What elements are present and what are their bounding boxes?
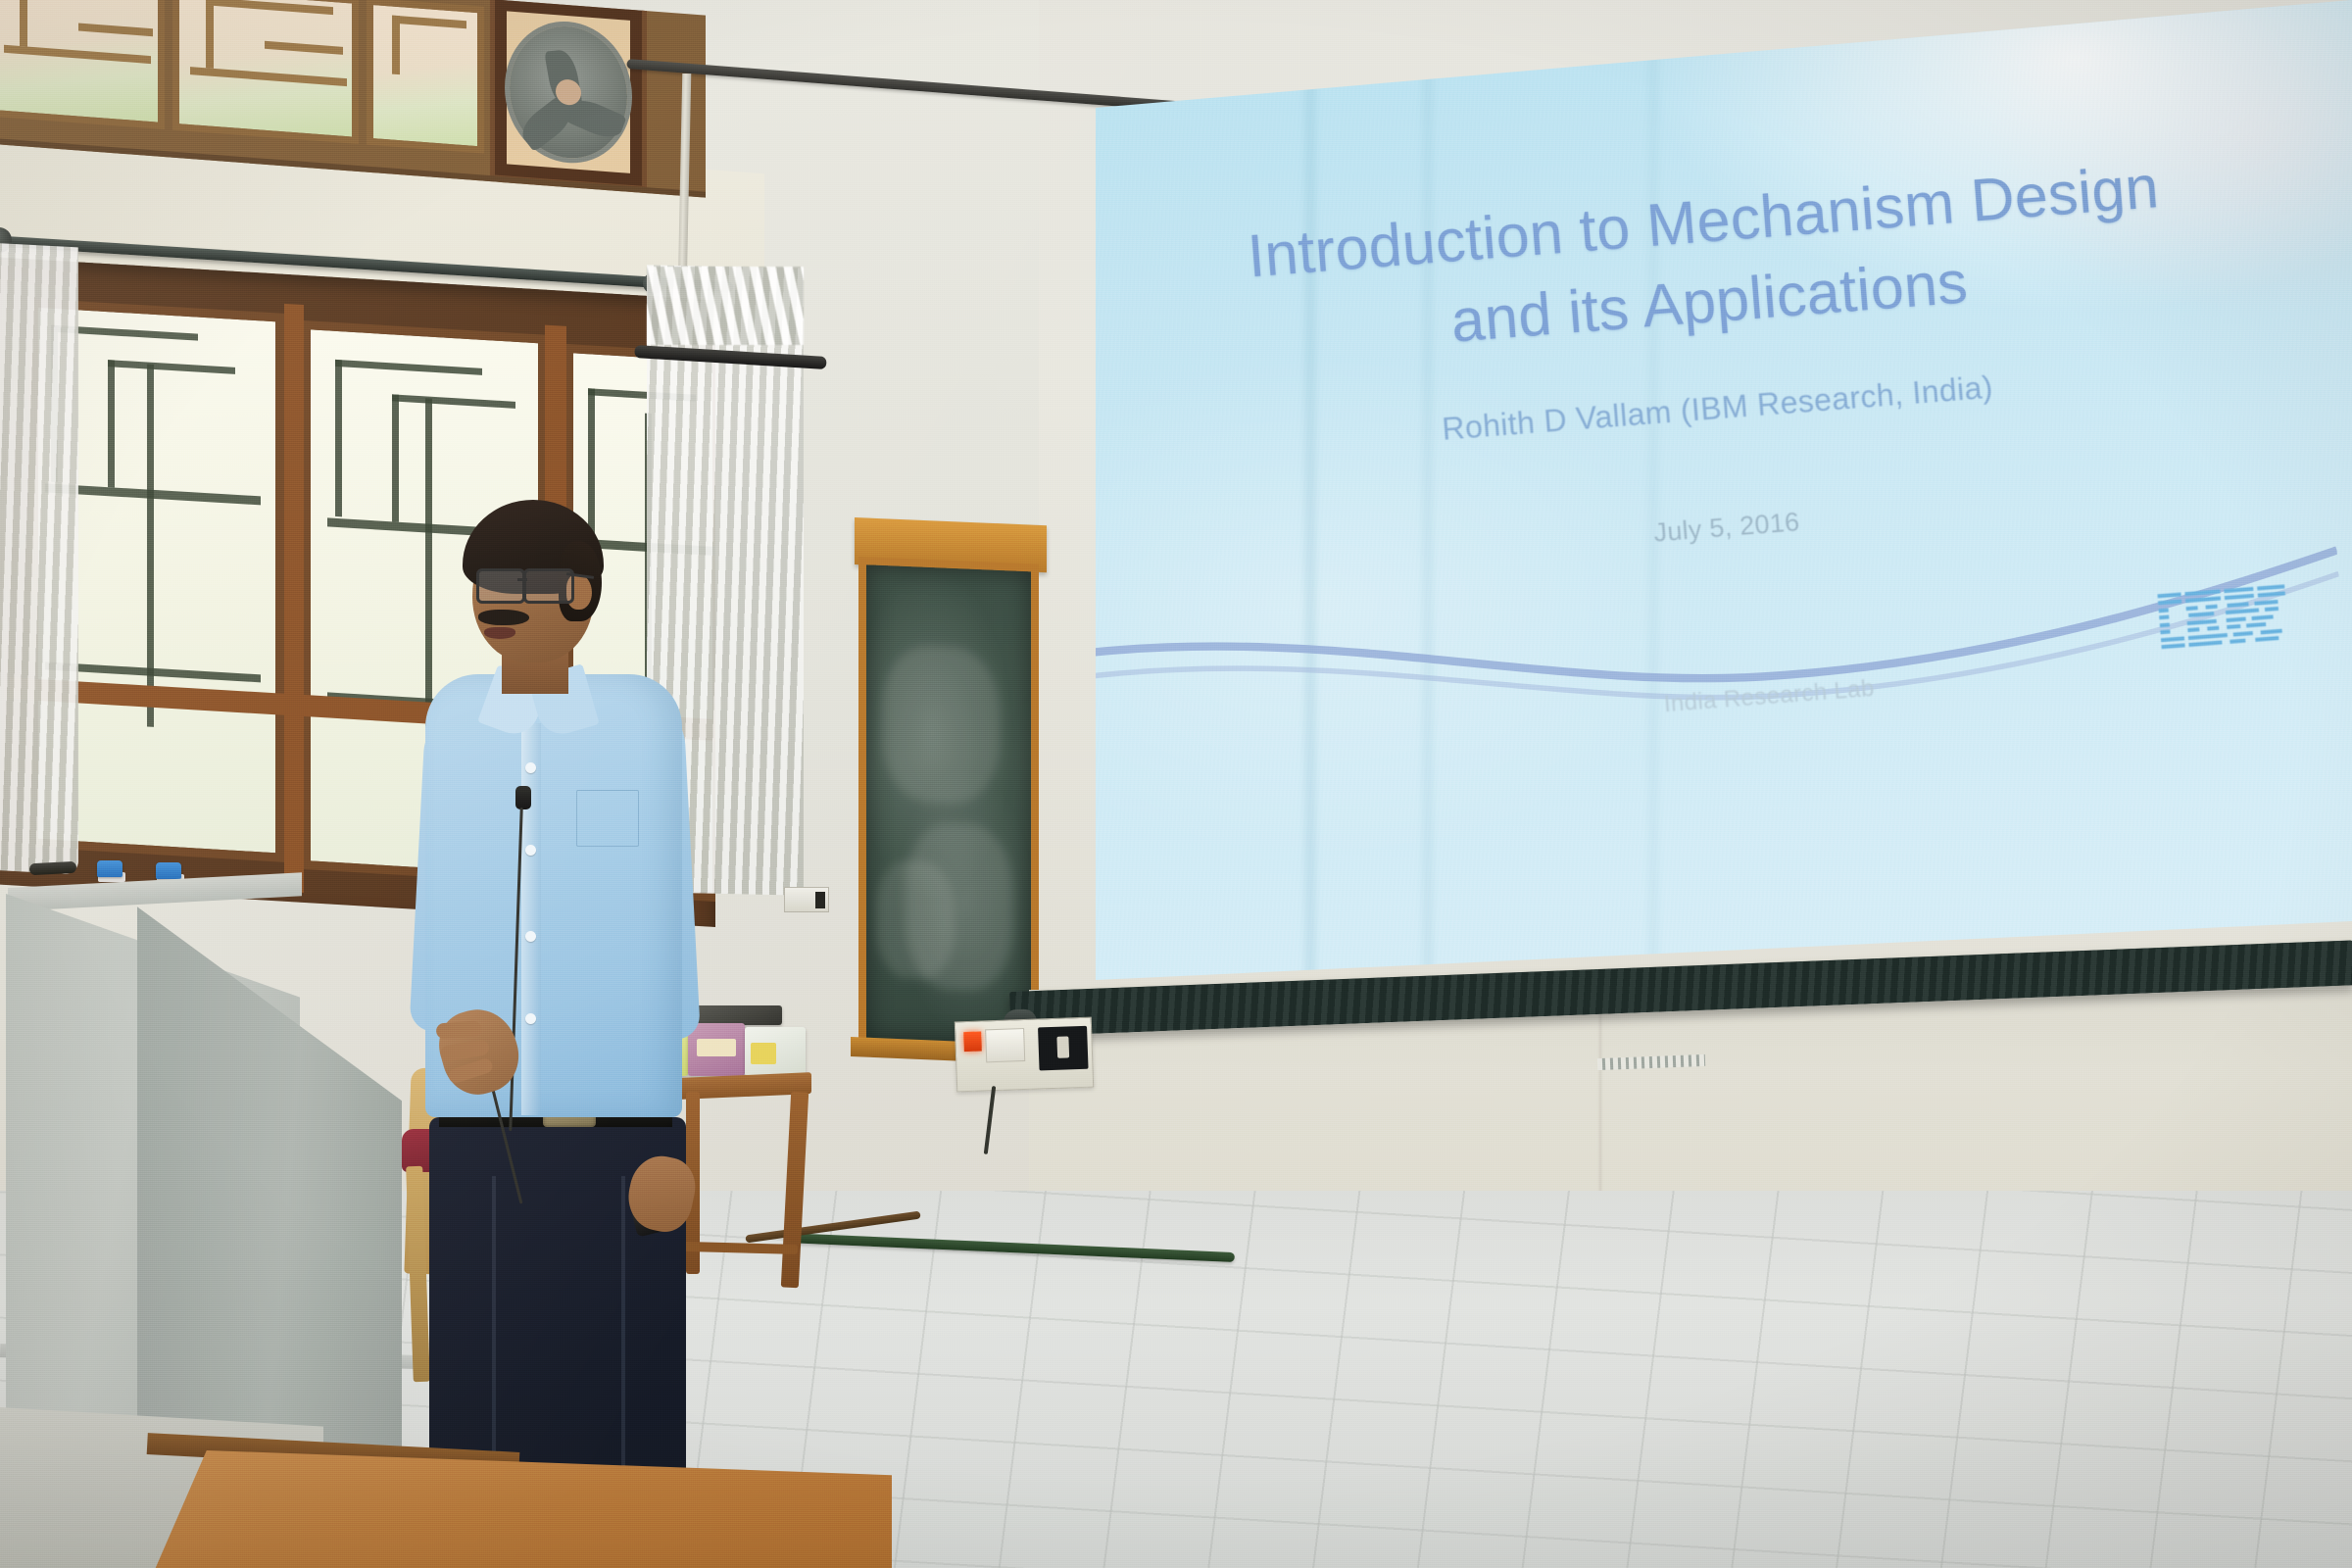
- slide-footer: India Research Lab: [1112, 637, 2352, 760]
- wall-switch-box[interactable]: [784, 887, 829, 912]
- moustache: [478, 610, 529, 625]
- water-bottle-cap: [156, 862, 181, 879]
- glasses-bridge: [517, 578, 527, 581]
- curtain-ruffle: [647, 267, 804, 345]
- water-bottle-cap: [97, 860, 122, 877]
- slide-content: Introduction to Mechanism Design and its…: [1096, 0, 2352, 980]
- whiteboard-marker: [29, 861, 77, 875]
- power-switch-plate[interactable]: [955, 1017, 1094, 1093]
- light-switch[interactable]: [985, 1028, 1025, 1062]
- power-indicator-light: [963, 1032, 982, 1053]
- ibm-logo: [2157, 584, 2288, 649]
- lapel-microphone: [515, 786, 531, 809]
- glasses: [476, 568, 525, 604]
- presenter: [412, 500, 745, 1470]
- exhaust-fan: [490, 0, 647, 191]
- slide-title: Introduction to Mechanism Design and its…: [1096, 134, 2338, 390]
- mouth: [484, 627, 515, 639]
- gift-box: [745, 1027, 806, 1076]
- lace-curtain: [0, 243, 78, 875]
- shirt-placket: [521, 723, 541, 1115]
- lecture-room-photo: Introduction to Mechanism Design and its…: [0, 0, 2352, 1568]
- slide-date: July 5, 2016: [1100, 465, 2352, 591]
- blackboard: [858, 557, 1039, 1054]
- projection-screen: Introduction to Mechanism Design and its…: [1096, 0, 2352, 980]
- shirt-pocket: [576, 790, 639, 847]
- power-socket[interactable]: [1038, 1026, 1089, 1071]
